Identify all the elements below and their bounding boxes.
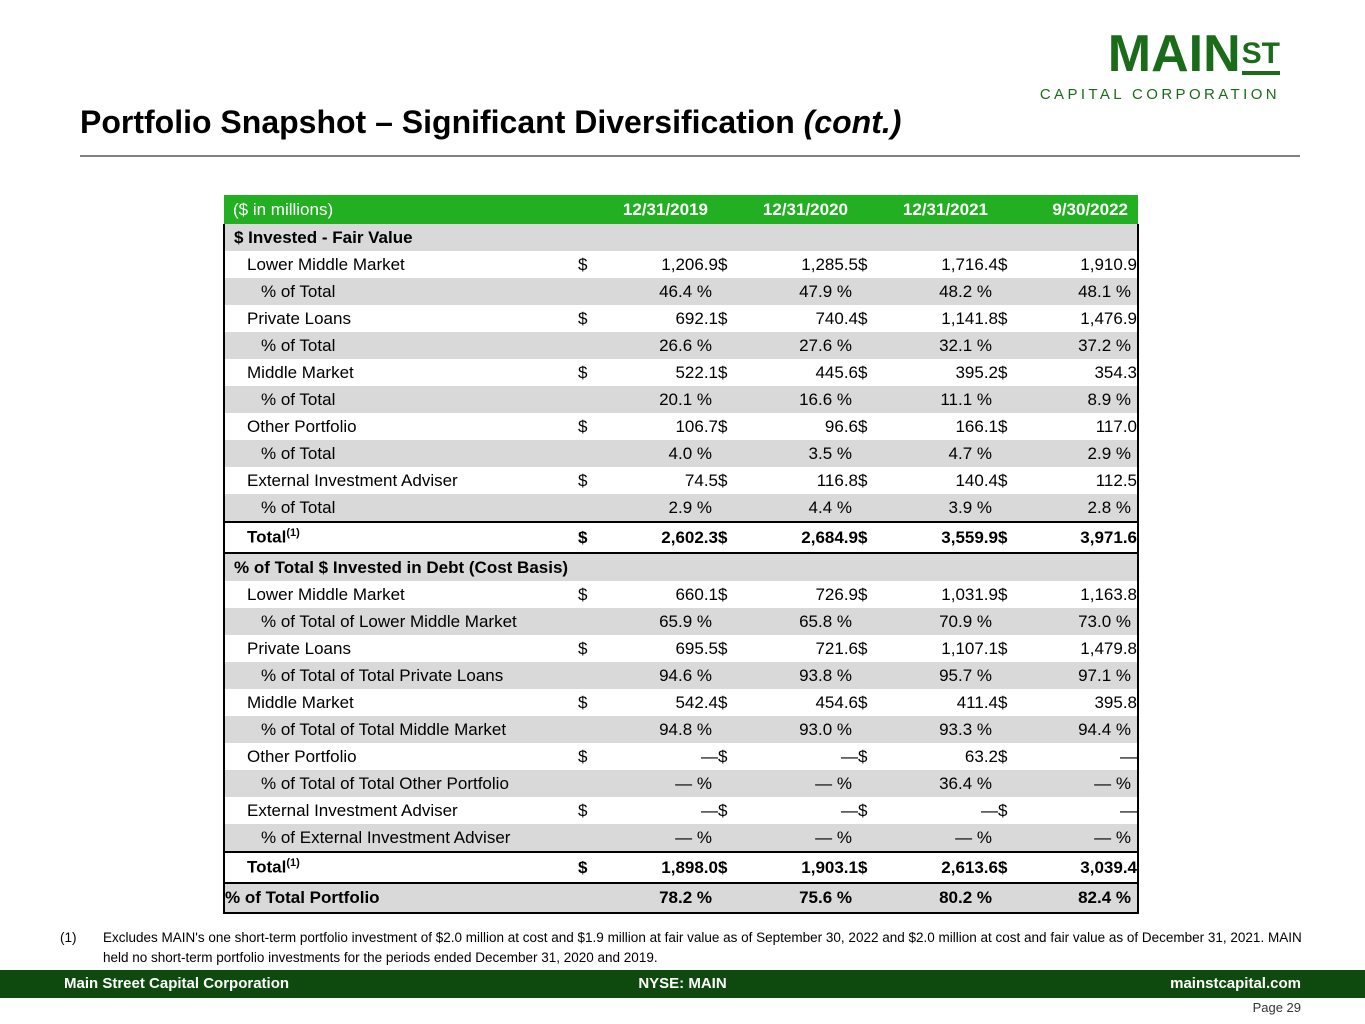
value-cell: 2.9 % [606, 494, 718, 522]
currency-symbol-cell: $ [718, 413, 746, 440]
value-cell: 542.4 [606, 689, 718, 716]
value-cell: 80.2 % [886, 883, 998, 913]
currency-symbol-cell [718, 824, 746, 852]
value-cell: 106.7 [606, 413, 718, 440]
value-cell: 48.2 % [886, 278, 998, 305]
value-cell: 1,285.5 [746, 251, 858, 278]
table-total-row: Total(1)$2,602.3$2,684.9$3,559.9$3,971.6 [224, 522, 1138, 553]
value-cell: 70.9 % [886, 608, 998, 635]
currency-symbol-cell: $ [718, 581, 746, 608]
row-label: Other Portfolio [224, 413, 578, 440]
table-row: Private Loans$695.5$721.6$1,107.1$1,479.… [224, 635, 1138, 662]
currency-symbol-cell: $ [578, 467, 606, 494]
value-cell: 1,163.8 [1026, 581, 1138, 608]
row-label: Lower Middle Market [224, 251, 578, 278]
table-row: % of Total26.6 %27.6 %32.1 %37.2 % [224, 332, 1138, 359]
table-row: Other Portfolio$—$—$63.2$— [224, 743, 1138, 770]
currency-symbol-cell: $ [998, 743, 1026, 770]
currency-symbol-cell: $ [718, 522, 746, 553]
currency-symbol-cell [998, 716, 1026, 743]
value-cell: 4.7 % [886, 440, 998, 467]
currency-symbol-cell [858, 278, 886, 305]
currency-symbol-cell [718, 332, 746, 359]
value-cell: — % [886, 824, 998, 852]
company-logo: MAINST CAPITAL CORPORATION [1040, 28, 1280, 102]
currency-symbol-cell: $ [578, 305, 606, 332]
currency-symbol-cell: $ [998, 581, 1026, 608]
currency-symbol-cell [578, 824, 606, 852]
currency-symbol-cell: $ [718, 852, 746, 883]
currency-symbol-cell [578, 278, 606, 305]
currency-symbol-cell: $ [858, 797, 886, 824]
currency-symbol-cell [718, 608, 746, 635]
logo-wordmark-st: ST [1242, 39, 1280, 75]
currency-symbol-cell: $ [858, 689, 886, 716]
currency-symbol-cell [998, 608, 1026, 635]
logo-subtitle: CAPITAL CORPORATION [1040, 87, 1280, 102]
currency-symbol-cell: $ [858, 522, 886, 553]
value-cell: 721.6 [746, 635, 858, 662]
value-cell: 63.2 [886, 743, 998, 770]
value-cell: 16.6 % [746, 386, 858, 413]
page-title: Portfolio Snapshot – Significant Diversi… [80, 104, 1300, 141]
value-cell: 94.8 % [606, 716, 718, 743]
value-cell: 1,107.1 [886, 635, 998, 662]
currency-symbol-cell [858, 608, 886, 635]
footnote: (1) Excludes MAIN's one short-term portf… [60, 928, 1310, 967]
table-row: % of External Investment Adviser— %— %— … [224, 824, 1138, 852]
value-cell: 354.3 [1026, 359, 1138, 386]
currency-symbol-cell: $ [578, 413, 606, 440]
value-cell: 4.4 % [746, 494, 858, 522]
currency-symbol-cell: $ [858, 635, 886, 662]
value-cell: 96.6 [746, 413, 858, 440]
value-cell: 27.6 % [746, 332, 858, 359]
row-label: % of Total of Total Middle Market [224, 716, 578, 743]
value-cell: — % [606, 824, 718, 852]
row-label: % of Total [224, 332, 578, 359]
value-cell: 395.2 [886, 359, 998, 386]
currency-symbol-cell [578, 770, 606, 797]
currency-symbol-cell [578, 494, 606, 522]
table-grand-row: % of Total Portfolio78.2 %75.6 %80.2 %82… [224, 883, 1138, 913]
table-row: Lower Middle Market$660.1$726.9$1,031.9$… [224, 581, 1138, 608]
value-cell: — % [746, 770, 858, 797]
value-cell: 3.5 % [746, 440, 858, 467]
currency-symbol-cell [578, 608, 606, 635]
currency-symbol-cell [578, 332, 606, 359]
value-cell: 695.5 [606, 635, 718, 662]
currency-symbol-cell [998, 824, 1026, 852]
row-label: Other Portfolio [224, 743, 578, 770]
footnote-ref: (1) [286, 527, 299, 539]
currency-symbol-cell [998, 332, 1026, 359]
currency-symbol-cell [858, 716, 886, 743]
currency-symbol-cell: $ [718, 635, 746, 662]
currency-symbol-cell: $ [858, 467, 886, 494]
title-area: Portfolio Snapshot – Significant Diversi… [80, 104, 1300, 157]
footer-bar: Main Street Capital Corporation NYSE: MA… [0, 970, 1365, 998]
row-label: Middle Market [224, 689, 578, 716]
currency-symbol-cell [718, 770, 746, 797]
value-cell: 1,910.9 [1026, 251, 1138, 278]
value-cell: 95.7 % [886, 662, 998, 689]
currency-symbol-cell [998, 494, 1026, 522]
value-cell: 26.6 % [606, 332, 718, 359]
value-cell: 1,479.8 [1026, 635, 1138, 662]
table-row: % of Total of Total Other Portfolio— %— … [224, 770, 1138, 797]
value-cell: 2.9 % [1026, 440, 1138, 467]
value-cell: — [886, 797, 998, 824]
section-heading-row: % of Total $ Invested in Debt (Cost Basi… [224, 553, 1138, 581]
currency-symbol-cell: $ [718, 743, 746, 770]
value-cell: — % [746, 824, 858, 852]
currency-symbol-cell: $ [998, 689, 1026, 716]
value-cell: — [1026, 743, 1138, 770]
currency-symbol-cell: $ [998, 635, 1026, 662]
currency-symbol-cell: $ [578, 852, 606, 883]
currency-symbol-cell [998, 386, 1026, 413]
value-cell: 48.1 % [1026, 278, 1138, 305]
currency-symbol-cell [858, 662, 886, 689]
currency-symbol-cell: $ [718, 359, 746, 386]
table-row: Other Portfolio$106.7$96.6$166.1$117.0 [224, 413, 1138, 440]
currency-symbol-cell: $ [998, 413, 1026, 440]
currency-symbol-cell [858, 770, 886, 797]
table-header-units: ($ in millions) [224, 195, 578, 224]
value-cell: 36.4 % [886, 770, 998, 797]
value-cell: 93.0 % [746, 716, 858, 743]
value-cell: 65.9 % [606, 608, 718, 635]
currency-symbol-cell [998, 440, 1026, 467]
value-cell: — % [1026, 770, 1138, 797]
currency-symbol-cell [998, 662, 1026, 689]
value-cell: 4.0 % [606, 440, 718, 467]
currency-symbol-cell: $ [998, 359, 1026, 386]
table-row: % of Total of Total Private Loans94.6 %9… [224, 662, 1138, 689]
row-label: % of Total [224, 386, 578, 413]
currency-symbol-cell [718, 278, 746, 305]
row-label: % of Total of Total Other Portfolio [224, 770, 578, 797]
value-cell: 692.1 [606, 305, 718, 332]
value-cell: 1,031.9 [886, 581, 998, 608]
value-cell: 74.5 [606, 467, 718, 494]
value-cell: — [746, 743, 858, 770]
page-title-cont: (cont.) [804, 104, 902, 140]
currency-symbol-cell [858, 332, 886, 359]
currency-symbol-cell: $ [998, 251, 1026, 278]
table-header-date-2: 12/31/2020 [718, 195, 858, 224]
value-cell: 166.1 [886, 413, 998, 440]
currency-symbol-cell: $ [858, 251, 886, 278]
value-cell: 82.4 % [1026, 883, 1138, 913]
currency-symbol-cell: $ [718, 467, 746, 494]
currency-symbol-cell: $ [858, 581, 886, 608]
table-row: % of Total46.4 %47.9 %48.2 %48.1 % [224, 278, 1138, 305]
value-cell: 660.1 [606, 581, 718, 608]
table-row: External Investment Adviser$—$—$—$— [224, 797, 1138, 824]
logo-wordmark-main: MAIN [1108, 28, 1241, 80]
table-row: Middle Market$542.4$454.6$411.4$395.8 [224, 689, 1138, 716]
currency-symbol-cell: $ [998, 797, 1026, 824]
value-cell: 1,716.4 [886, 251, 998, 278]
row-label: External Investment Adviser [224, 797, 578, 824]
value-cell: — [606, 743, 718, 770]
table-row: % of Total of Lower Middle Market65.9 %6… [224, 608, 1138, 635]
currency-symbol-cell: $ [718, 305, 746, 332]
footnote-text: Excludes MAIN's one short-term portfolio… [103, 928, 1310, 967]
page-number: Page 29 [1253, 1000, 1301, 1015]
currency-symbol-cell: $ [998, 467, 1026, 494]
currency-symbol-cell: $ [578, 635, 606, 662]
currency-symbol-cell [858, 440, 886, 467]
value-cell: 65.8 % [746, 608, 858, 635]
footnote-marker: (1) [60, 928, 100, 948]
value-cell: 522.1 [606, 359, 718, 386]
value-cell: 116.8 [746, 467, 858, 494]
value-cell: 3,559.9 [886, 522, 998, 553]
value-cell: 2,684.9 [746, 522, 858, 553]
value-cell: 94.6 % [606, 662, 718, 689]
portfolio-table-container: ($ in millions)12/31/201912/31/202012/31… [223, 195, 1137, 914]
value-cell: 117.0 [1026, 413, 1138, 440]
value-cell: 93.8 % [746, 662, 858, 689]
currency-symbol-cell: $ [858, 359, 886, 386]
value-cell: 2,602.3 [606, 522, 718, 553]
table-row: % of Total of Total Middle Market94.8 %9… [224, 716, 1138, 743]
row-label: % of External Investment Adviser [224, 824, 578, 852]
currency-symbol-cell: $ [718, 251, 746, 278]
footnote-ref: (1) [286, 857, 299, 869]
row-label: % of Total [224, 494, 578, 522]
value-cell: 3,039.4 [1026, 852, 1138, 883]
value-cell: — [746, 797, 858, 824]
currency-symbol-cell: $ [578, 797, 606, 824]
currency-symbol-cell: $ [578, 743, 606, 770]
value-cell: 1,903.1 [746, 852, 858, 883]
currency-symbol-cell [998, 770, 1026, 797]
title-divider [80, 155, 1300, 157]
table-header-date-1: 12/31/2019 [578, 195, 718, 224]
page-title-main: Portfolio Snapshot – Significant Diversi… [80, 104, 804, 140]
currency-symbol-cell [858, 883, 886, 913]
value-cell: 2,613.6 [886, 852, 998, 883]
currency-symbol-cell [718, 440, 746, 467]
currency-symbol-cell: $ [578, 689, 606, 716]
value-cell: 94.4 % [1026, 716, 1138, 743]
currency-symbol-cell [718, 494, 746, 522]
value-cell: — [606, 797, 718, 824]
table-header-row: ($ in millions)12/31/201912/31/202012/31… [224, 195, 1138, 224]
value-cell: 411.4 [886, 689, 998, 716]
table-header-date-3: 12/31/2021 [858, 195, 998, 224]
row-label: External Investment Adviser [224, 467, 578, 494]
value-cell: — [1026, 797, 1138, 824]
row-label: Total(1) [224, 852, 578, 883]
value-cell: 140.4 [886, 467, 998, 494]
portfolio-table-body: ($ in millions)12/31/201912/31/202012/31… [224, 195, 1138, 913]
row-label: Total(1) [224, 522, 578, 553]
currency-symbol-cell: $ [858, 413, 886, 440]
table-row: % of Total20.1 %16.6 %11.1 %8.9 % [224, 386, 1138, 413]
currency-symbol-cell [578, 662, 606, 689]
value-cell: 3.9 % [886, 494, 998, 522]
currency-symbol-cell [858, 494, 886, 522]
currency-symbol-cell [718, 883, 746, 913]
value-cell: 445.6 [746, 359, 858, 386]
currency-symbol-cell: $ [858, 743, 886, 770]
value-cell: 20.1 % [606, 386, 718, 413]
row-label: Lower Middle Market [224, 581, 578, 608]
value-cell: 78.2 % [606, 883, 718, 913]
value-cell: 8.9 % [1026, 386, 1138, 413]
currency-symbol-cell: $ [718, 689, 746, 716]
value-cell: 11.1 % [886, 386, 998, 413]
value-cell: 75.6 % [746, 883, 858, 913]
row-label: % of Total Portfolio [224, 883, 578, 913]
value-cell: 2.8 % [1026, 494, 1138, 522]
value-cell: — % [1026, 824, 1138, 852]
currency-symbol-cell [578, 883, 606, 913]
row-label: % of Total of Total Private Loans [224, 662, 578, 689]
value-cell: 395.8 [1026, 689, 1138, 716]
value-cell: 1,476.9 [1026, 305, 1138, 332]
value-cell: 73.0 % [1026, 608, 1138, 635]
table-row: Lower Middle Market$1,206.9$1,285.5$1,71… [224, 251, 1138, 278]
value-cell: 47.9 % [746, 278, 858, 305]
value-cell: 46.4 % [606, 278, 718, 305]
currency-symbol-cell [858, 824, 886, 852]
value-cell: 1,206.9 [606, 251, 718, 278]
table-row: Private Loans$692.1$740.4$1,141.8$1,476.… [224, 305, 1138, 332]
currency-symbol-cell: $ [578, 251, 606, 278]
row-label: Private Loans [224, 635, 578, 662]
value-cell: — % [606, 770, 718, 797]
table-row: % of Total2.9 %4.4 %3.9 %2.8 % [224, 494, 1138, 522]
currency-symbol-cell [578, 440, 606, 467]
section-heading-label: % of Total $ Invested in Debt (Cost Basi… [224, 553, 1138, 581]
currency-symbol-cell: $ [858, 305, 886, 332]
currency-symbol-cell [718, 662, 746, 689]
value-cell: 454.6 [746, 689, 858, 716]
table-row: % of Total4.0 %3.5 %4.7 %2.9 % [224, 440, 1138, 467]
value-cell: 37.2 % [1026, 332, 1138, 359]
currency-symbol-cell: $ [998, 852, 1026, 883]
portfolio-table: ($ in millions)12/31/201912/31/202012/31… [223, 195, 1139, 914]
currency-symbol-cell [718, 386, 746, 413]
currency-symbol-cell: $ [578, 581, 606, 608]
currency-symbol-cell: $ [578, 359, 606, 386]
currency-symbol-cell: $ [578, 522, 606, 553]
section-heading-row: $ Invested - Fair Value [224, 224, 1138, 251]
currency-symbol-cell [718, 716, 746, 743]
value-cell: 97.1 % [1026, 662, 1138, 689]
currency-symbol-cell [998, 278, 1026, 305]
table-header-date-4: 9/30/2022 [998, 195, 1138, 224]
currency-symbol-cell [578, 716, 606, 743]
currency-symbol-cell [998, 883, 1026, 913]
footer-website[interactable]: mainstcapital.com [1170, 975, 1301, 992]
row-label: Private Loans [224, 305, 578, 332]
row-label: % of Total of Lower Middle Market [224, 608, 578, 635]
row-label: % of Total [224, 440, 578, 467]
value-cell: 1,141.8 [886, 305, 998, 332]
currency-symbol-cell: $ [998, 522, 1026, 553]
currency-symbol-cell [578, 386, 606, 413]
table-total-row: Total(1)$1,898.0$1,903.1$2,613.6$3,039.4 [224, 852, 1138, 883]
row-label: Middle Market [224, 359, 578, 386]
table-row: External Investment Adviser$74.5$116.8$1… [224, 467, 1138, 494]
value-cell: 112.5 [1026, 467, 1138, 494]
table-row: Middle Market$522.1$445.6$395.2$354.3 [224, 359, 1138, 386]
value-cell: 1,898.0 [606, 852, 718, 883]
section-heading-label: $ Invested - Fair Value [224, 224, 1138, 251]
value-cell: 726.9 [746, 581, 858, 608]
footer-ticker: NYSE: MAIN [0, 975, 1365, 992]
row-label: % of Total [224, 278, 578, 305]
value-cell: 32.1 % [886, 332, 998, 359]
currency-symbol-cell: $ [718, 797, 746, 824]
value-cell: 740.4 [746, 305, 858, 332]
currency-symbol-cell: $ [858, 852, 886, 883]
value-cell: 93.3 % [886, 716, 998, 743]
currency-symbol-cell: $ [998, 305, 1026, 332]
value-cell: 3,971.6 [1026, 522, 1138, 553]
currency-symbol-cell [858, 386, 886, 413]
